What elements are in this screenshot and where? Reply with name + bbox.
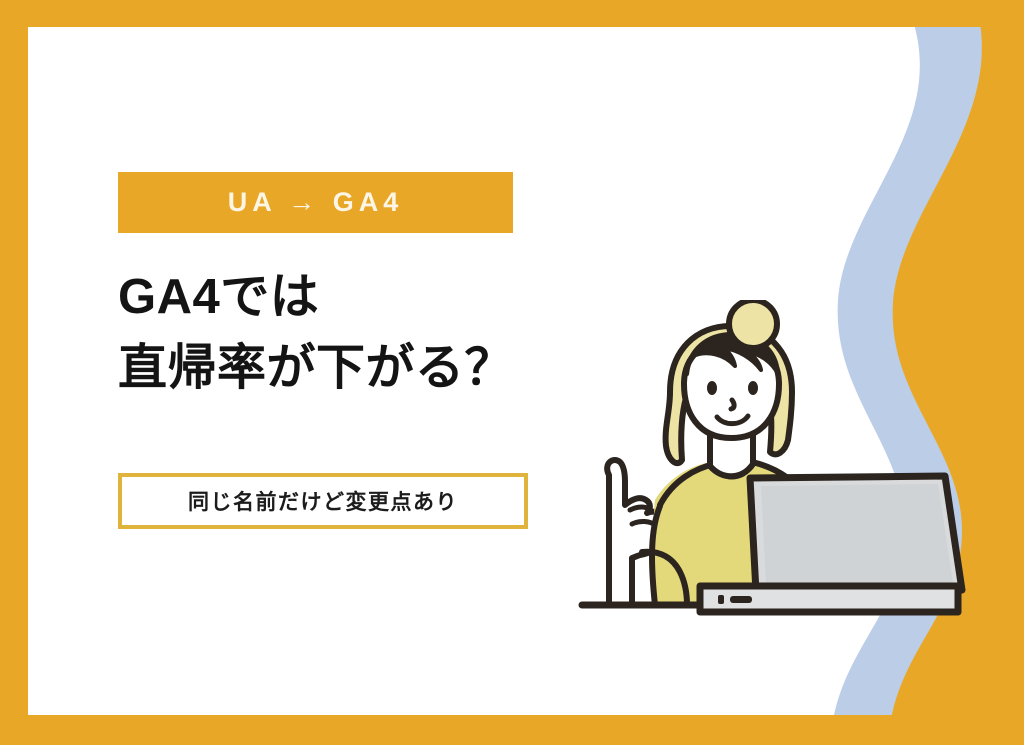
subtitle-label: 同じ名前だけど変更点あり (188, 486, 458, 516)
subtitle-box: 同じ名前だけど変更点あり (118, 473, 528, 529)
badge-ua-to-ga4: UA → GA4 (118, 172, 513, 233)
page-title: GA4では 直帰率が下がる？ (118, 262, 514, 404)
frame-top (0, 0, 1024, 27)
head (666, 300, 792, 463)
eye-left (707, 381, 717, 395)
frame-right (1002, 0, 1024, 745)
eye-right (748, 381, 758, 395)
illustration-woman-with-laptop (560, 300, 980, 630)
poster-canvas: UA → GA4 GA4では 直帰率が下がる？ 同じ名前だけど変更点あり (0, 0, 1024, 745)
page-title-line-2: 直帰率が下がる？ (118, 333, 514, 404)
frame-bottom (0, 715, 1024, 745)
laptop-port-dot (718, 595, 724, 604)
frame-left (0, 0, 28, 745)
badge-label: UA → GA4 (228, 187, 404, 218)
page-title-line-1: GA4では (118, 262, 514, 333)
hair-bun (729, 300, 777, 348)
laptop-port-bar (730, 596, 752, 603)
laptop-screen-inner (761, 484, 953, 585)
